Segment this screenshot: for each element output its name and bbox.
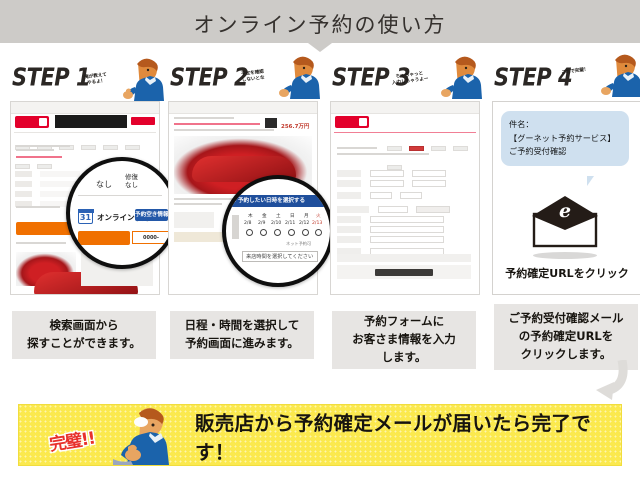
bubble-tail [587,176,594,186]
form-row-email [337,240,444,247]
envelope-e-glyph: e [559,200,571,222]
nav-cell[interactable] [103,145,118,150]
browser-chrome-bar [11,102,159,114]
completion-banner: 完璧!! 販売店から予約確定メールが届いたら完了です！ [18,404,622,466]
availability-note: ネット予約可 [286,241,311,247]
thumbs-up-person-icon [111,407,189,465]
step-4-mail-panel: 件名： 【グーネット予約サービス】 ご予約受付確認 e 予約確定URLをクリック [492,101,640,295]
car-title [174,123,260,125]
timeslot-radio[interactable] [315,229,322,236]
divider [334,132,476,133]
text-line [337,153,429,155]
step-2-magnifier: 3. 予約したい日時を選択する 木 金 土 日 月 火 2/8 2/9 2/10… [222,175,334,287]
timeslot-radio[interactable] [288,229,295,236]
site-nav-row [15,135,159,140]
email-subject-label: 件名： [509,118,621,132]
photo-count-badge [265,118,277,128]
form-row-postcode [337,198,450,205]
check-availability-button[interactable]: 予約空き情報を見る [135,209,168,221]
page-header: オンライン予約の使い方 [0,0,640,43]
step-1-magnifier: なし 修復 なし 31 オンライン予約 予約空き情報を見る 0000- [66,157,178,269]
form-row-name [337,162,446,169]
page-root: オンライン予約の使い方 STEP 1 俺が教えて やるよ！ [0,0,640,480]
submit-button[interactable] [375,269,433,276]
date-label: 2/10 [271,221,281,226]
progress-step [387,146,402,151]
text-line [16,149,54,151]
form-section-title [337,147,377,149]
email-subject-line2: ご予約受付確認 [509,145,621,159]
person-illustration-icon [108,57,164,101]
car-photo [16,252,76,286]
prev-week-button[interactable] [232,215,239,239]
day-label: 月 [304,213,309,219]
person-illustration-icon [264,55,320,99]
date-label: 2/9 [258,221,265,226]
step-1-head: STEP 1 俺が教えて やるよ！ [10,57,158,101]
magnified-label-shufuku: 修復 なし [125,173,138,189]
magnified-label-nashi: なし [96,179,112,190]
day-label: 日 [290,213,295,219]
calendar-icon: 31 [78,209,93,224]
nav-cell[interactable] [81,145,96,150]
step-3-caption: 予約フォームに お客さま情報を入力 します。 [332,311,476,369]
date-label: 2/12 [299,221,309,226]
nav-cell[interactable] [125,145,140,150]
form-row-tel [337,228,444,235]
click-url-label: 予約確定URLをクリック [493,265,640,281]
text-line [16,206,60,208]
step-4-label: STEP 4 [494,63,572,91]
day-label: 木 [248,213,253,219]
magnified-content: なし 修復 なし 31 オンライン予約 予約空き情報を見る 0000- [70,161,174,265]
envelope-icon: e [528,194,602,248]
telephone-number: 0000- [132,231,170,244]
timeslot-radio[interactable] [260,229,267,236]
email-subject-bubble: 件名： 【グーネット予約サービス】 ご予約受付確認 [501,111,629,166]
step-4-head: STEP 4 これで完璧！ [492,57,640,101]
site-banner-ad [55,115,127,128]
text-line [174,203,222,205]
site-header-button [131,117,155,125]
progress-step-active [409,146,424,151]
flow-arrow-icon [582,360,628,404]
day-label: 金 [262,213,267,219]
date-label: 2/8 [244,221,251,226]
magnified-content: 3. 予約したい日時を選択する 木 金 土 日 月 火 2/8 2/9 2/10… [226,179,330,283]
date-label: 2/13 [312,221,322,226]
goo-net-logo [335,116,369,128]
person-illustration-icon [586,53,640,97]
step-3-screenshot [330,101,480,295]
timeslot-radio[interactable] [302,229,309,236]
date-label: 2/11 [285,221,295,226]
progress-step [453,146,468,151]
shop-contact-banner[interactable] [78,231,130,245]
text-line [16,242,66,244]
step-3-head: STEP 3 ちゃちゃっと 入力しちゃうよー [330,57,478,101]
select-datetime-heading: 3. 予約したい日時を選択する [226,195,330,207]
page-title: オンライン予約の使い方 [0,9,640,39]
section-heading-line [16,156,62,158]
timeslot-radio[interactable] [246,229,253,236]
day-label: 火 [316,213,321,219]
completion-message: 販売店から予約確定メールが届いたら完了です！ [195,405,621,467]
envelope-shadow [533,252,597,259]
progress-step [431,146,446,151]
form-row-kana [337,172,446,179]
text-line [174,129,274,131]
browser-chrome-bar [331,102,479,114]
goo-net-logo [15,116,49,128]
divider [78,195,162,196]
kanpeki-badge: 完璧!! [47,424,96,456]
browser-chrome-bar [169,102,317,114]
form-row-gender [337,184,422,191]
divider [14,132,156,133]
text-line [174,117,234,119]
header-notch [308,43,332,52]
person-illustration-icon [426,55,482,99]
agreement-bar [337,254,471,262]
price-main: 256.7万円 [281,122,309,130]
timeslot-radio[interactable] [274,229,281,236]
text-line [16,145,70,147]
day-label: 土 [276,213,281,219]
form-row-city [337,218,444,225]
form-row-prefecture [337,208,444,215]
step-2-caption: 日程・時間を選択して 予約画面に進みます。 [170,311,314,359]
visit-time-select[interactable]: 来店時間を選択してください [242,251,318,262]
step-2-head: STEP 2 予定を確認 しないとな [168,57,316,101]
email-subject-service: 【グーネット予約サービス】 [509,132,621,146]
thumbnail-strip[interactable] [174,212,214,228]
progress-steps [387,136,479,141]
step-1-caption: 検索画面から 探すことができます。 [12,311,156,359]
